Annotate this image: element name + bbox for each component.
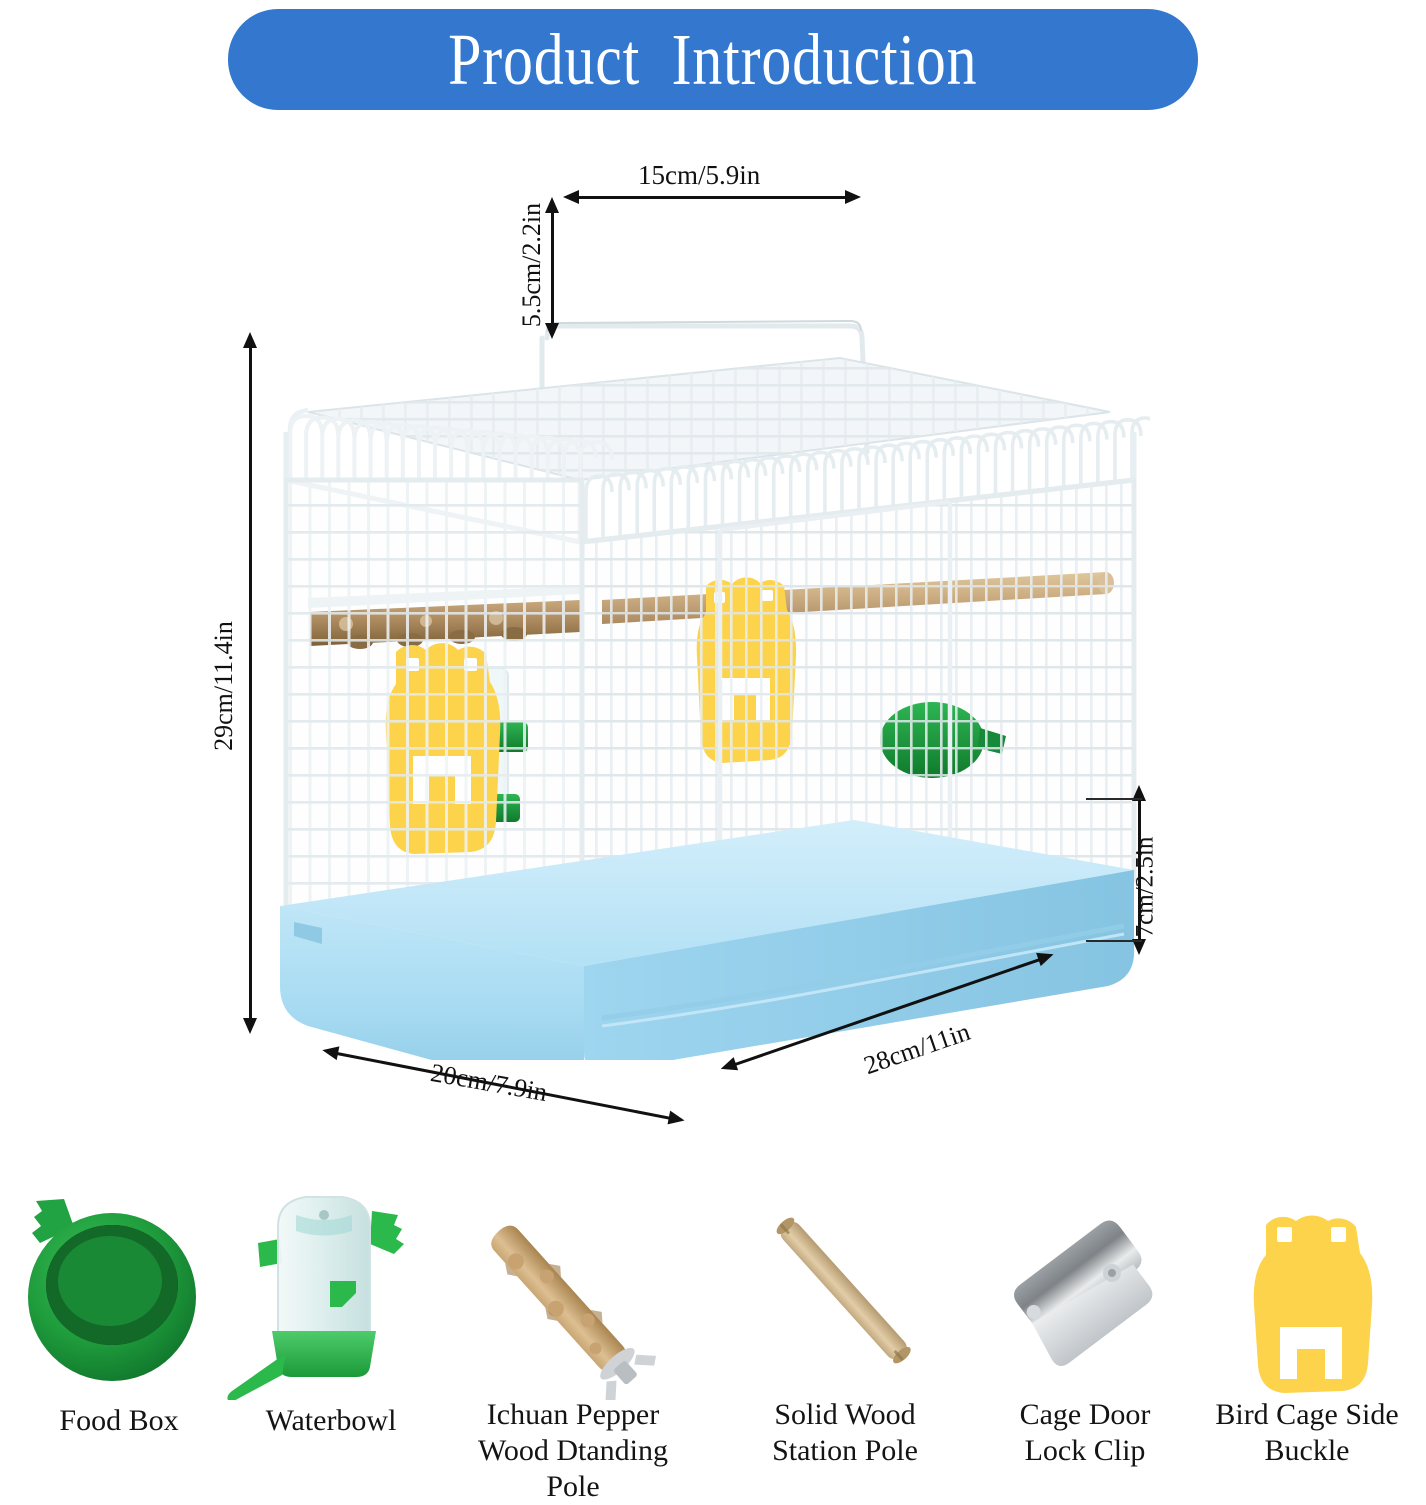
accessory-label-waterbowl: Waterbowl [212, 1403, 450, 1439]
accessory-waterbowl: Waterbowl [212, 1185, 450, 1500]
textured-wood-perch-icon [454, 1185, 692, 1400]
bird-cage-illustration [250, 180, 1150, 1060]
page-title-banner: Product Introduction [228, 9, 1198, 110]
green-food-bowl-icon [0, 1185, 238, 1400]
dimension-label-handle-height: 5.5cm/2.2in [517, 203, 547, 327]
dimension-arrow-tray-height [1138, 800, 1141, 940]
metal-clip-icon [966, 1185, 1204, 1400]
accessory-food-box: Food Box [0, 1185, 238, 1500]
water-bottle-icon [212, 1185, 450, 1400]
accessory-label-food-box: Food Box [0, 1403, 238, 1439]
accessory-lock-clip: Cage Door Lock Clip [966, 1185, 1204, 1500]
guide-line-tray-bottom [1086, 940, 1142, 942]
accessory-label-side-buckle: Bird Cage Side Buckle [1188, 1397, 1426, 1469]
guide-line-tray-top [1086, 798, 1142, 800]
accessory-side-buckle: Bird Cage Side Buckle [1188, 1185, 1426, 1500]
yellow-bear-buckle-icon [1188, 1185, 1426, 1400]
accessories-row: Food Box [0, 1185, 1426, 1500]
dimension-label-handle-width: 15cm/5.9in [638, 160, 760, 191]
dimension-arrow-cage-width [337, 1052, 670, 1119]
dimension-arrow-handle-width [578, 196, 846, 199]
page-title: Product Introduction [448, 18, 977, 102]
dimension-label-tray-height: 7cm/2.5in [1131, 837, 1159, 938]
smooth-wood-dowel-icon [726, 1185, 964, 1400]
accessory-label-station-pole: Solid Wood Station Pole [726, 1397, 964, 1469]
accessory-label-lock-clip: Cage Door Lock Clip [966, 1397, 1204, 1469]
product-introduction-page: Product Introduction [0, 0, 1426, 1500]
accessory-station-pole: Solid Wood Station Pole [726, 1185, 964, 1500]
accessory-label-pepper-wood-pole: Ichuan Pepper Wood Dtanding Pole [454, 1397, 692, 1505]
dimension-arrow-handle-height [551, 212, 554, 324]
dimension-arrow-cage-height [249, 347, 252, 1019]
accessory-pepper-wood-pole: Ichuan Pepper Wood Dtanding Pole [454, 1185, 692, 1500]
dimension-label-cage-height: 29cm/11.4in [209, 621, 239, 751]
